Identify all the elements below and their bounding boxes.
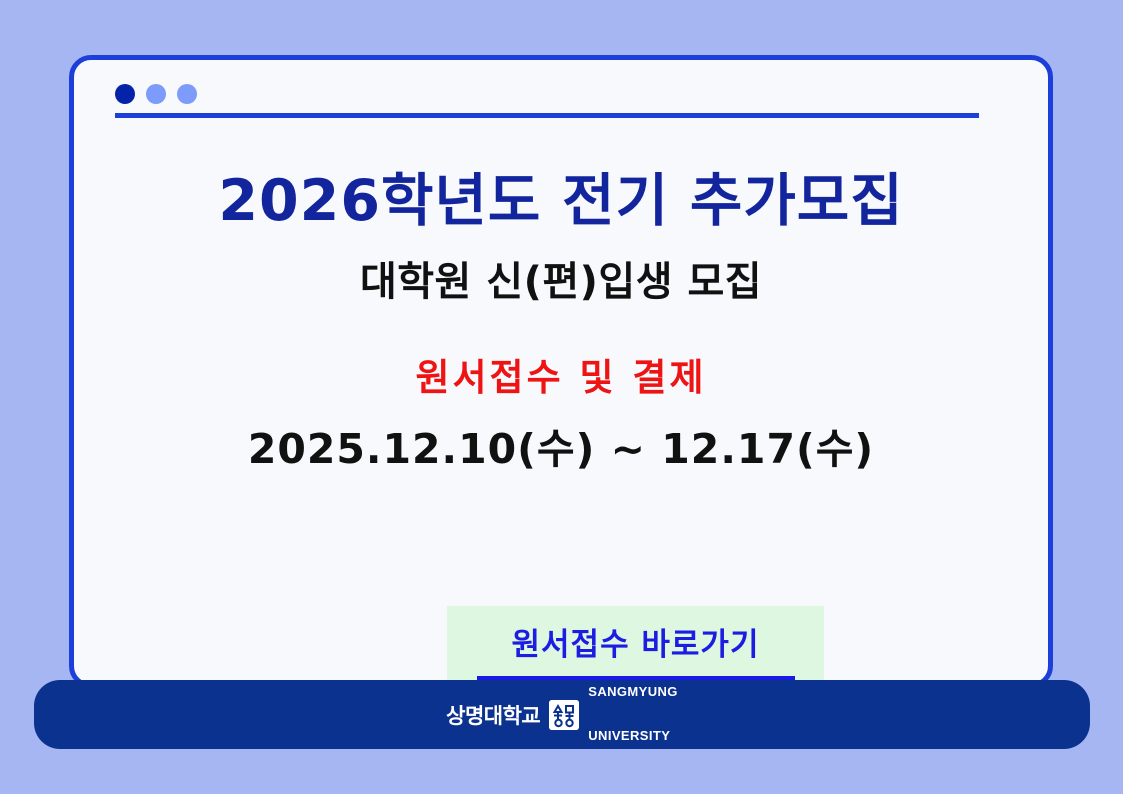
university-name-english-line2: UNIVERSITY [588,729,678,744]
window-dot-2-icon[interactable] [146,84,166,104]
application-date-range: 2025.12.10(수) ~ 12.17(수) [74,415,1048,475]
header-divider [115,113,979,118]
university-name-english-line1: SANGMYUNG [588,685,678,700]
page-subtitle: 대학원 신(편)입생 모집 [74,259,1048,305]
window-controls [115,84,197,104]
promotional-poster: 2026학년도 전기 추가모집 대학원 신(편)입생 모집 원서접수 및 결제 … [0,0,1123,794]
footer-bar: 상명대학교 SANGMYUNG [34,680,1090,749]
sangmyung-emblem-icon [549,700,579,730]
page-title: 2026학년도 전기 추가모집 [74,170,1048,233]
university-name-korean: 상명대학교 [446,700,540,730]
browser-window-card: 2026학년도 전기 추가모집 대학원 신(편)입생 모집 원서접수 및 결제 … [69,55,1053,688]
university-logo: 상명대학교 SANGMYUNG [446,655,678,775]
window-dot-1-icon[interactable] [115,84,135,104]
application-headline: 원서접수 및 결제 [74,347,1048,401]
university-name-english: SANGMYUNG UNIVERSITY [588,655,678,775]
poster-content: 2026학년도 전기 추가모집 대학원 신(편)입생 모집 원서접수 및 결제 … [74,170,1048,475]
window-dot-3-icon[interactable] [177,84,197,104]
